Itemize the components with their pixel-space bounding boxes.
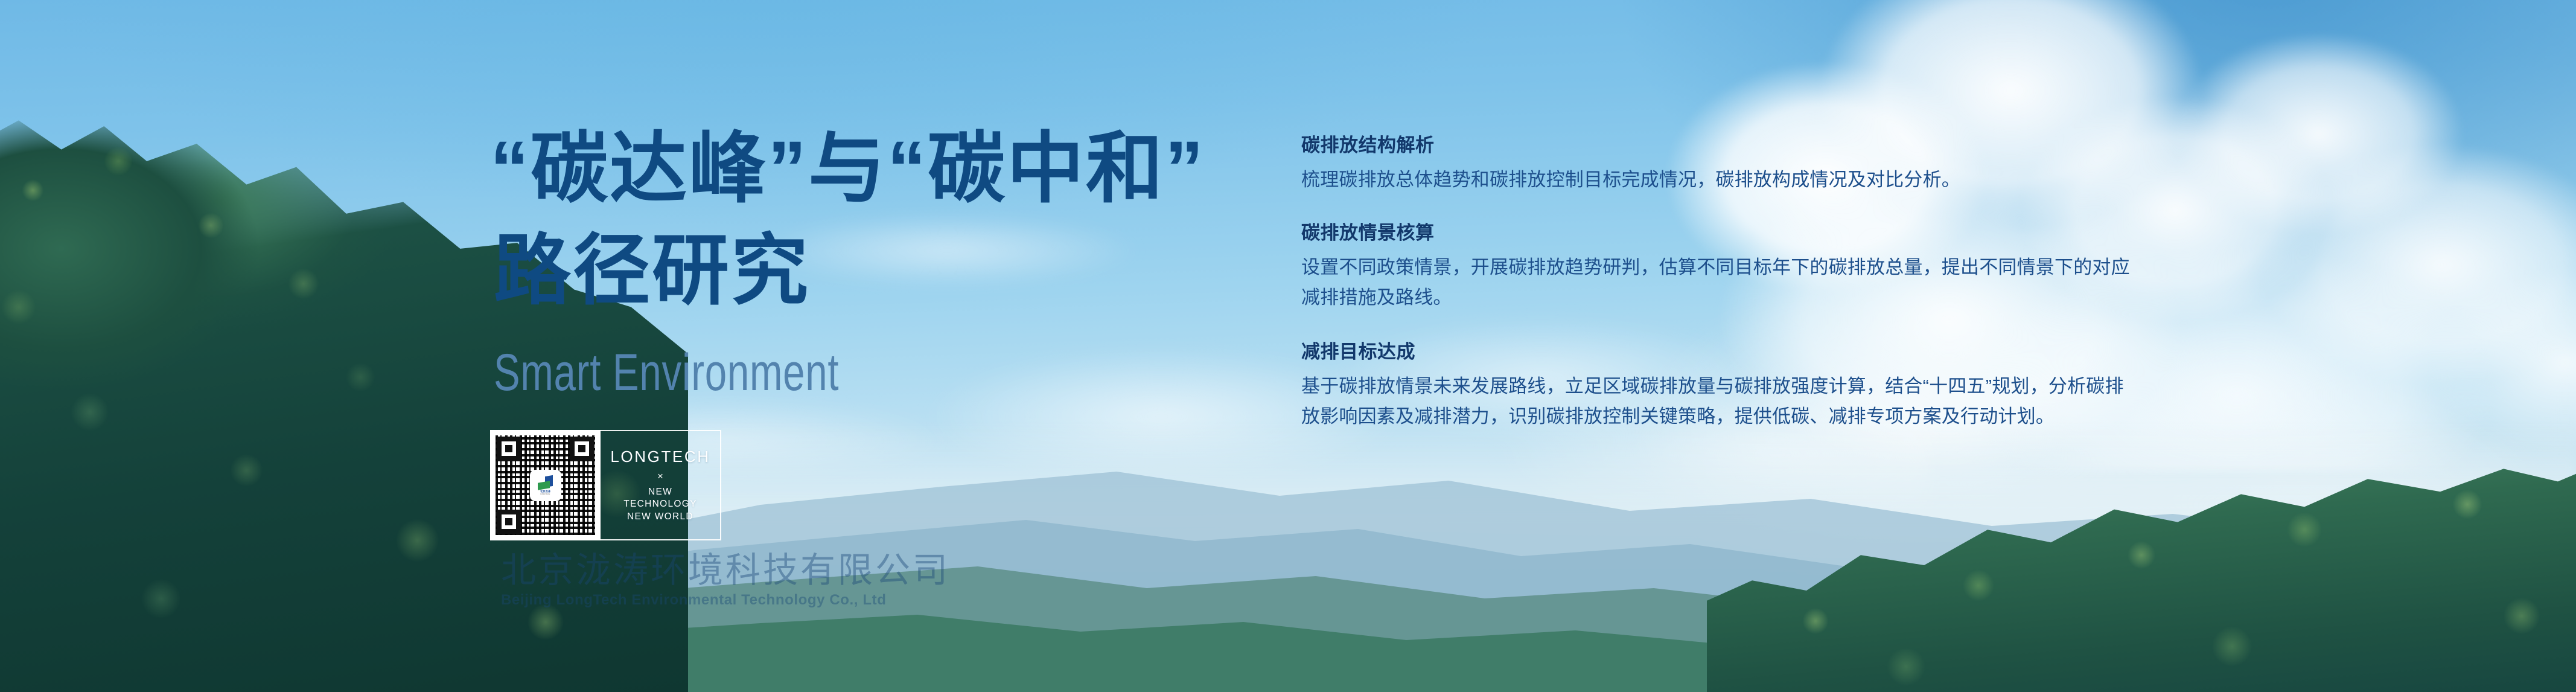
info-section-2: 碳排放情景核算 设置不同政策情景，开展碳排放趋势研判，估算不同目标年下的碳排放总… — [1301, 222, 2134, 313]
qr-finder-bottom-left — [497, 510, 521, 534]
longtech-logo-icon — [538, 476, 553, 489]
hero-subtitle: Smart Environment — [494, 343, 1046, 403]
brand-tagline-line-3: NEW WORLD — [623, 511, 697, 523]
watermark-company-cn: 北京泷涛环境科技有限公司 — [501, 553, 950, 588]
hero-title-block: “碳达峰”与“碳中和” 路径研究 Smart Environment — [490, 118, 1220, 403]
brand-tagline-line-2: TECHNOLOGY — [623, 498, 697, 510]
company-watermark: 北京泷涛环境科技有限公司 Beijing LongTech Environmen… — [501, 553, 950, 609]
info-section-1-body: 梳理碳排放总体趋势和碳排放控制目标完成情况，碳排放构成情况及对比分析。 — [1301, 165, 2134, 195]
qr-code[interactable]: 北京泷涛 LONGTECH — [490, 430, 601, 540]
info-section-3-heading: 减排目标达成 — [1301, 341, 2134, 364]
hero-title-line-2: 路径研究 — [490, 220, 1220, 322]
info-column: 碳排放结构解析 梳理碳排放总体趋势和碳排放控制目标完成情况，碳排放构成情况及对比… — [1301, 134, 2134, 432]
qr-logo-text-en: LONGTECH — [540, 493, 550, 495]
qr-center-logo: 北京泷涛 LONGTECH — [531, 471, 560, 500]
brand-tagline: NEW TECHNOLOGY NEW WORLD — [623, 486, 697, 523]
info-section-2-heading: 碳排放情景核算 — [1301, 222, 2134, 245]
info-section-2-body: 设置不同政策情景，开展碳排放趋势研判，估算不同目标年下的碳排放总量，提出不同情景… — [1301, 252, 2134, 313]
watermark-company-en: Beijing LongTech Environmental Technolog… — [501, 592, 950, 609]
info-section-3-body: 基于碳排放情景未来发展路线，立足区域碳排放量与碳排放强度计算，结合“十四五”规划… — [1301, 371, 2134, 432]
brand-tagline-line-1: NEW — [623, 486, 697, 498]
qr-finder-top-right — [570, 437, 594, 461]
banner-root: “碳达峰”与“碳中和” 路径研究 Smart Environment 北京泷涛 — [0, 0, 2576, 692]
info-section-1-heading: 碳排放结构解析 — [1301, 134, 2134, 158]
brand-card: 北京泷涛 LONGTECH LONGTECH × NEW TECHNOLOGY … — [490, 430, 721, 540]
content-layer: “碳达峰”与“碳中和” 路径研究 Smart Environment 北京泷涛 — [0, 0, 2576, 692]
qr-code-modules: 北京泷涛 LONGTECH — [496, 435, 595, 535]
hero-title-line-1: “碳达峰”与“碳中和” — [490, 118, 1220, 220]
brand-panel: LONGTECH × NEW TECHNOLOGY NEW WORLD — [601, 430, 721, 540]
brand-name: LONGTECH — [610, 447, 710, 466]
info-section-3: 减排目标达成 基于碳排放情景未来发展路线，立足区域碳排放量与碳排放强度计算，结合… — [1301, 341, 2134, 432]
logo-green-shape — [538, 481, 550, 490]
qr-finder-top-left — [497, 437, 521, 461]
info-section-1: 碳排放结构解析 梳理碳排放总体趋势和碳排放控制目标完成情况，碳排放构成情况及对比… — [1301, 134, 2134, 195]
brand-separator-icon: × — [657, 471, 663, 481]
